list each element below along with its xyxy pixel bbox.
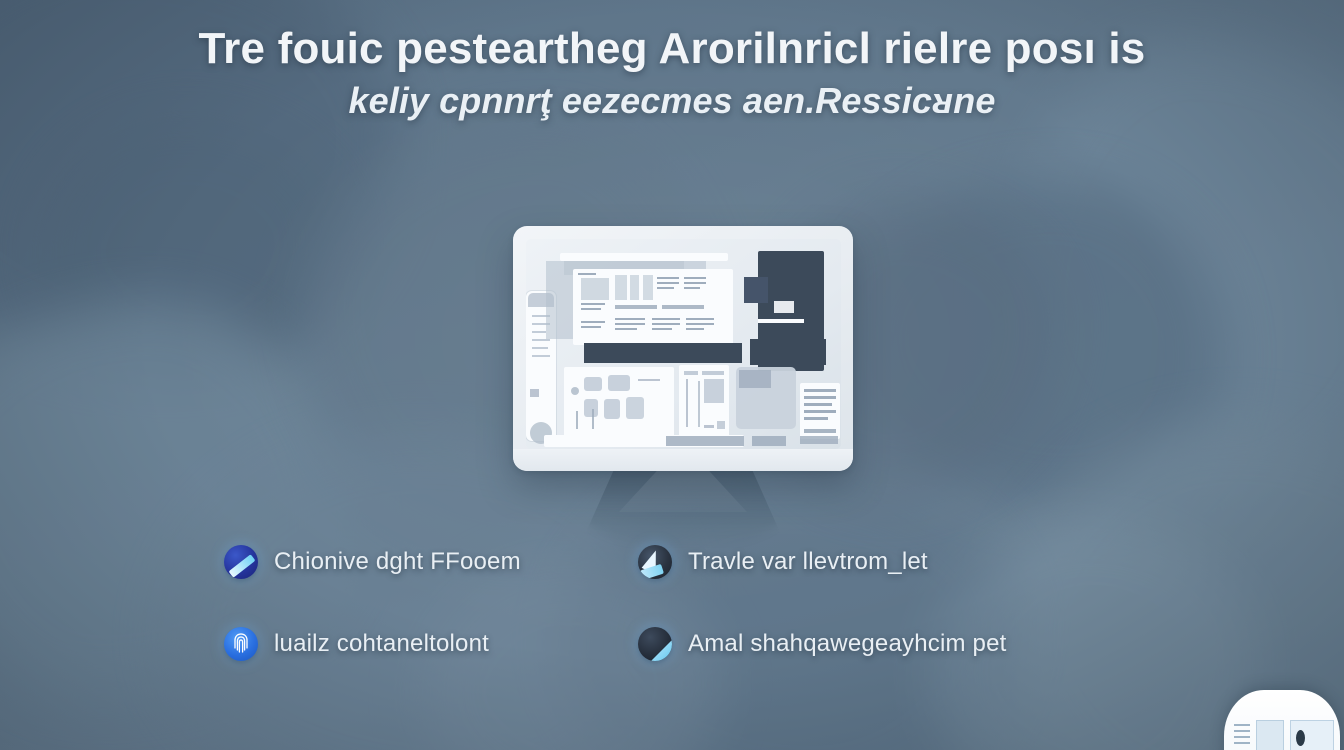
screen-line bbox=[652, 318, 680, 320]
screen-line bbox=[581, 308, 601, 310]
screen-diagram-node bbox=[571, 387, 579, 395]
screen-chart-plot bbox=[704, 379, 724, 403]
screen-chart-header bbox=[684, 371, 698, 375]
screen-line bbox=[578, 273, 596, 275]
slide-canvas: Tre fouic pesteartheg Arorilnricl rielre… bbox=[0, 0, 1344, 750]
screen-line bbox=[684, 277, 706, 279]
screen-diagram-connector bbox=[592, 409, 594, 429]
list-item[interactable]: luailz cohtaneltolont bbox=[224, 627, 638, 661]
headline-block: Tre fouic pesteartheg Arorilnricl rielre… bbox=[0, 24, 1344, 122]
screen-line bbox=[581, 321, 605, 323]
monitor-bezel bbox=[513, 226, 853, 471]
headline-secondary: keliy cpnnrţ eezecmes aen.Ressicᴚne bbox=[90, 80, 1254, 121]
list-item-label: Amal shahqawegeayhcim pet bbox=[688, 630, 1007, 658]
screen-line bbox=[657, 282, 679, 284]
screen-dark-band-right bbox=[750, 339, 826, 365]
screen-chart-tick bbox=[704, 425, 714, 428]
screen-chart-bar bbox=[698, 381, 700, 427]
screen-chart-axis bbox=[686, 379, 688, 427]
badge-stripe bbox=[1234, 736, 1250, 738]
screen-progress-bar bbox=[615, 305, 657, 309]
screen-dark-notch bbox=[744, 277, 768, 303]
screen-sidebar-line bbox=[532, 355, 550, 357]
screen-line bbox=[657, 277, 679, 279]
screen-chart-header bbox=[702, 371, 724, 375]
screen-line bbox=[686, 323, 714, 325]
screen-diagram-shape bbox=[584, 377, 602, 391]
screen-footer-fill bbox=[666, 436, 744, 446]
background-blob bbox=[844, 180, 1224, 510]
list-item[interactable]: Amal shahqawegeayhcim pet bbox=[638, 627, 1124, 661]
screen-footer-chip bbox=[800, 436, 838, 444]
screen-progress-bar bbox=[662, 305, 704, 309]
screen-line bbox=[804, 403, 832, 406]
screen-line bbox=[652, 323, 680, 325]
screen-line bbox=[804, 417, 828, 420]
screen-chart-legend bbox=[717, 421, 725, 429]
screen-diagram-connector bbox=[638, 379, 660, 381]
screen-dark-panel-cut bbox=[774, 301, 794, 313]
screen-sidebar-line bbox=[532, 339, 550, 341]
screen-block bbox=[615, 275, 627, 300]
screen-line bbox=[652, 328, 672, 330]
screen-dark-band bbox=[584, 343, 742, 363]
screen-diagram-shape bbox=[584, 399, 598, 417]
cursor-circle-icon bbox=[638, 545, 672, 579]
fingerprint-circle-icon bbox=[224, 627, 258, 661]
screen-image-thumb bbox=[739, 370, 771, 388]
list-item[interactable]: Travle var llevtrom_let bbox=[638, 545, 1124, 579]
screen-line bbox=[686, 328, 704, 330]
screen-block bbox=[630, 275, 639, 300]
crescent-circle-icon bbox=[638, 627, 672, 661]
monitor-chin bbox=[513, 449, 853, 471]
screen-top-toolbar bbox=[560, 253, 728, 261]
screen-line bbox=[581, 326, 601, 328]
screen-line bbox=[657, 287, 674, 289]
background-blob bbox=[40, 120, 340, 380]
screen-sidebar-line bbox=[532, 347, 548, 349]
list-item-label: Travle var llevtrom_let bbox=[688, 548, 928, 576]
badge-panel bbox=[1256, 720, 1284, 750]
screen-dark-panel-divider bbox=[758, 319, 804, 323]
screen-footer-chip bbox=[752, 436, 786, 446]
headline-primary: Tre fouic pesteartheg Arorilnricl rielre… bbox=[90, 24, 1254, 73]
list-item[interactable]: Chionive dght FFooem bbox=[224, 545, 638, 579]
screen-diagram-shape bbox=[626, 397, 644, 419]
screen-diagram-shape bbox=[604, 399, 620, 419]
screen-block bbox=[643, 275, 653, 300]
screen-diagram-connector bbox=[576, 411, 578, 429]
screen-line bbox=[581, 303, 605, 305]
pen-circle-icon bbox=[224, 545, 258, 579]
screen-thumbnail bbox=[581, 278, 609, 300]
screen-line bbox=[684, 282, 706, 284]
monitor-illustration bbox=[513, 226, 853, 471]
screen-line bbox=[615, 323, 645, 325]
screen-line bbox=[804, 410, 836, 413]
monitor-screen bbox=[526, 239, 841, 449]
screen-line bbox=[804, 429, 836, 433]
badge-dot bbox=[1296, 730, 1305, 746]
list-item-label: Chionive dght FFooem bbox=[274, 548, 521, 576]
corner-logo-badge[interactable] bbox=[1224, 690, 1340, 750]
screen-diagram-shape bbox=[608, 375, 630, 391]
screen-sidebar-line bbox=[532, 331, 546, 333]
badge-stripe bbox=[1234, 730, 1250, 732]
screen-line bbox=[615, 328, 637, 330]
screen-line bbox=[804, 389, 836, 392]
screen-sidebar-chip bbox=[530, 389, 539, 397]
list-item-label: luailz cohtaneltolont bbox=[274, 630, 489, 658]
screen-line bbox=[686, 318, 714, 320]
badge-stripe bbox=[1234, 724, 1250, 726]
bullet-list: Chionive dght FFooem Travle var llevtrom… bbox=[224, 545, 1124, 661]
screen-line bbox=[615, 318, 645, 320]
badge-stripe bbox=[1234, 742, 1250, 744]
screen-line bbox=[684, 287, 700, 289]
screen-line bbox=[804, 396, 836, 399]
